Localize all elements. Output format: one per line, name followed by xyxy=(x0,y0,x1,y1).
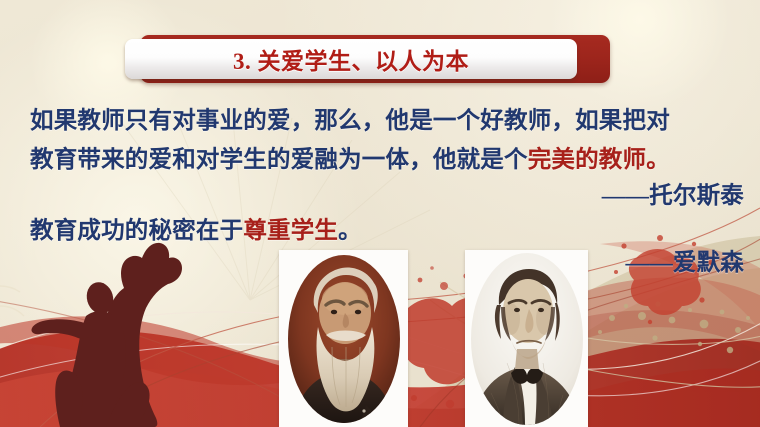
portrait-tolstoy-oval xyxy=(288,255,400,423)
quote-line-3-plain: 教育成功的秘密在于 xyxy=(30,218,243,244)
quote-line-2: 教育带来的爱和对学生的爱融为一体，他就是个完美的教师。 xyxy=(30,140,670,174)
attribution-tolstoy: ——托尔斯泰 xyxy=(602,176,744,210)
attribution-emerson: ——爱默森 xyxy=(626,243,745,277)
portrait-emerson-oval xyxy=(471,253,583,425)
title-banner-inner-panel: 3. 关爱学生、以人为本 xyxy=(125,39,577,79)
left-streaks xyxy=(0,286,24,316)
title-banner: 3. 关爱学生、以人为本 xyxy=(140,35,610,83)
page-title: 3. 关爱学生、以人为本 xyxy=(233,42,469,76)
emerson-illustration xyxy=(471,253,583,425)
quote-line-3: 教育成功的秘密在于尊重学生。 xyxy=(30,211,362,245)
portrait-tolstoy xyxy=(279,250,408,427)
quote-line-3-end: 。 xyxy=(338,218,362,244)
quote-line-3-highlight: 尊重学生 xyxy=(243,218,338,244)
dancing-person-silhouette xyxy=(31,243,182,427)
slide-canvas: 3. 关爱学生、以人为本 如果教师只有对事业的爱，那么，他是一个好教师，如果把对… xyxy=(0,0,760,427)
tolstoy-illustration xyxy=(288,255,400,423)
khaki-speckle xyxy=(598,301,750,353)
quote-line-2-highlight: 完美的教师。 xyxy=(528,147,670,173)
quote-line-2-plain: 教育带来的爱和对学生的爱融为一体，他就是个 xyxy=(30,147,528,173)
portrait-emerson xyxy=(465,250,588,427)
quote-line-1: 如果教师只有对事业的爱，那么，他是一个好教师，如果把对 xyxy=(30,101,670,135)
